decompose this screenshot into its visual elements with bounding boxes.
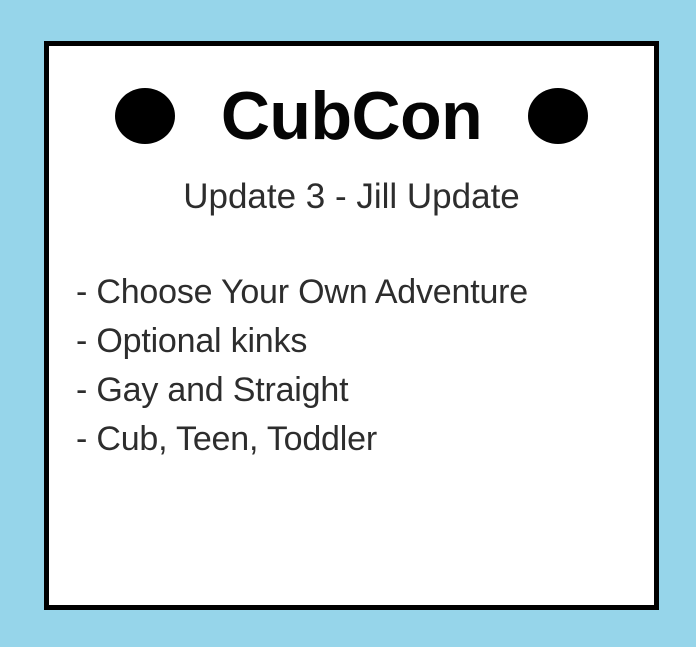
title-row: CubCon xyxy=(49,68,654,164)
bullet-list: - Choose Your Own Adventure - Optional k… xyxy=(76,268,636,464)
slide-title: CubCon xyxy=(221,82,482,150)
filled-circle-icon-left xyxy=(115,88,175,144)
list-item: - Optional kinks xyxy=(76,317,636,366)
filled-circle-icon-right xyxy=(528,88,588,144)
list-item: - Gay and Straight xyxy=(76,366,636,415)
slide-canvas: CubCon Update 3 - Jill Update - Choose Y… xyxy=(0,0,696,647)
list-item: - Choose Your Own Adventure xyxy=(76,268,636,317)
slide-card: CubCon Update 3 - Jill Update - Choose Y… xyxy=(44,41,659,610)
slide-subtitle: Update 3 - Jill Update xyxy=(49,174,654,220)
list-item: - Cub, Teen, Toddler xyxy=(76,415,636,464)
